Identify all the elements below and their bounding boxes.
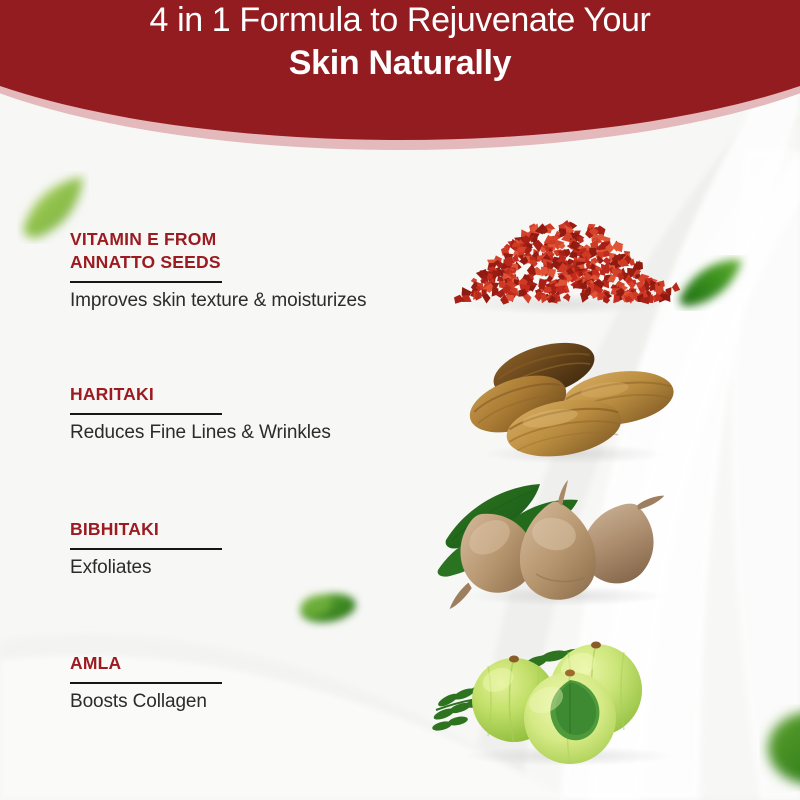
annatto-seeds-image: [438, 188, 708, 323]
ingredient-name-haritaki: HARITAKI: [70, 383, 450, 406]
ingredient-name-amla: AMLA: [70, 652, 450, 675]
ingredient-text-bibhitaki: BIBHITAKI Exfoliates: [70, 518, 450, 580]
ingredient-rule-bibhitaki: [70, 548, 222, 550]
ingredient-benefit-bibhitaki: Exfoliates: [70, 556, 450, 580]
ingredient-text-amla: AMLA Boosts Collagen: [70, 652, 450, 714]
ingredient-text-haritaki: HARITAKI Reduces Fine Lines & Wrinkles: [70, 383, 450, 445]
ingredient-text-annatto: VITAMIN E FROM ANNATTO SEEDS Improves sk…: [70, 228, 450, 313]
ingredient-benefit-annatto: Improves skin texture & moisturizes: [70, 289, 450, 313]
ingredient-rule-haritaki: [70, 413, 222, 415]
amla-image: [418, 618, 703, 770]
ingredient-list: VITAMIN E FROM ANNATTO SEEDS Improves sk…: [0, 0, 800, 800]
ingredient-rule-annatto: [70, 281, 222, 283]
poster-canvas: 4 in 1 Formula to Rejuvenate Your Skin N…: [0, 0, 800, 800]
ingredient-benefit-haritaki: Reduces Fine Lines & Wrinkles: [70, 421, 450, 445]
ingredient-name-line1-annatto: VITAMIN E FROM: [70, 228, 450, 251]
ingredient-benefit-amla: Boosts Collagen: [70, 690, 450, 714]
ingredient-name-bibhitaki: BIBHITAKI: [70, 518, 450, 541]
haritaki-image: [466, 336, 696, 466]
ingredient-rule-amla: [70, 682, 222, 684]
bibhitaki-image: [436, 478, 686, 610]
ingredient-name-line2-annatto: ANNATTO SEEDS: [70, 251, 450, 274]
